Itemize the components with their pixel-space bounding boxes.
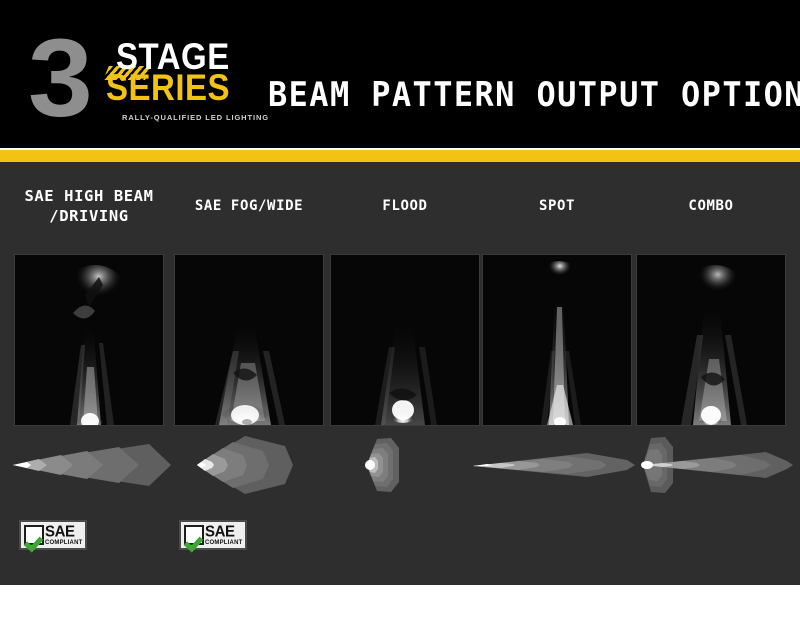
- check-icon: [24, 525, 44, 545]
- beam-photo: [483, 255, 631, 425]
- beam-diagram: [159, 434, 339, 496]
- beam-photo: [331, 255, 479, 425]
- logo-series-text: SERIES: [106, 66, 230, 107]
- brand-logo: 3 STAGE SERIES RALLY-QUALIFIED LED LIGHT…: [28, 30, 248, 126]
- footer-strip: [0, 585, 800, 622]
- column-label-line1: SAE HIGH BEAM: [24, 187, 153, 205]
- beam-column-combo: COMBO: [637, 162, 785, 585]
- beam-photo-scene: [175, 255, 323, 425]
- beam-column-flood: FLOOD: [331, 162, 479, 585]
- check-icon: [184, 525, 204, 545]
- beam-diagram: [0, 434, 179, 496]
- beam-columns: SAE HIGH BEAM /DRIVING: [0, 162, 800, 585]
- column-label-line1: FLOOD: [382, 198, 427, 214]
- logo-numeral: 3: [28, 28, 88, 130]
- logo-wordmark: STAGE SERIES RALLY-QUALIFIED LED LIGHTIN…: [100, 42, 260, 126]
- sae-badge-text: SAE COMPLIANT: [45, 524, 82, 546]
- beam-photo-scene: [637, 255, 785, 425]
- header-bar: 3 STAGE SERIES RALLY-QUALIFIED LED LIGHT…: [0, 0, 800, 148]
- beam-photo: [175, 255, 323, 425]
- column-label: SAE HIGH BEAM /DRIVING: [1, 186, 177, 226]
- sae-badge-subtitle: COMPLIANT: [205, 540, 242, 546]
- logo-tagline: RALLY-QUALIFIED LED LIGHTING: [122, 113, 269, 122]
- sae-badge-subtitle: COMPLIANT: [45, 540, 82, 546]
- column-label-line1: COMBO: [688, 198, 733, 214]
- beam-diagram-driving: [0, 434, 179, 496]
- logo-word-series: SERIES: [106, 73, 230, 104]
- column-label-line1: SPOT: [539, 198, 575, 214]
- beam-photo-scene: [15, 255, 163, 425]
- column-label: SPOT: [469, 196, 645, 216]
- beam-column-sae-high-beam-driving: SAE HIGH BEAM /DRIVING: [15, 162, 163, 585]
- column-label: COMBO: [623, 196, 799, 216]
- sae-badge-title: SAE: [45, 524, 82, 540]
- content-area: SAE HIGH BEAM /DRIVING: [0, 162, 800, 585]
- beam-photo: [637, 255, 785, 425]
- beam-diagram-combo: [621, 434, 800, 496]
- beam-column-spot: SPOT: [483, 162, 631, 585]
- beam-photo-scene: [483, 255, 631, 425]
- column-label-line2: /DRIVING: [49, 207, 128, 225]
- beam-photo: [15, 255, 163, 425]
- sae-badge-text: SAE COMPLIANT: [205, 524, 242, 546]
- beam-column-sae-fog-wide: SAE FOG/WIDE: [175, 162, 323, 585]
- sae-badge-title: SAE: [205, 524, 242, 540]
- sae-compliant-badge: SAE COMPLIANT: [179, 520, 247, 550]
- column-label-line1: SAE FOG/WIDE: [195, 198, 303, 214]
- accent-divider: [0, 150, 800, 162]
- column-label: FLOOD: [317, 196, 493, 216]
- sae-compliant-badge: SAE COMPLIANT: [19, 520, 87, 550]
- column-label: SAE FOG/WIDE: [161, 196, 337, 216]
- beam-diagram-spot: [467, 434, 647, 496]
- beam-pattern-chart: 3 STAGE SERIES RALLY-QUALIFIED LED LIGHT…: [0, 0, 800, 622]
- beam-diagram: [467, 434, 647, 496]
- beam-diagram-fog: [159, 434, 339, 496]
- beam-photo-scene: [331, 255, 479, 425]
- beam-diagram: [621, 434, 800, 496]
- page-title: BEAM PATTERN OUTPUT OPTIONS: [268, 76, 800, 114]
